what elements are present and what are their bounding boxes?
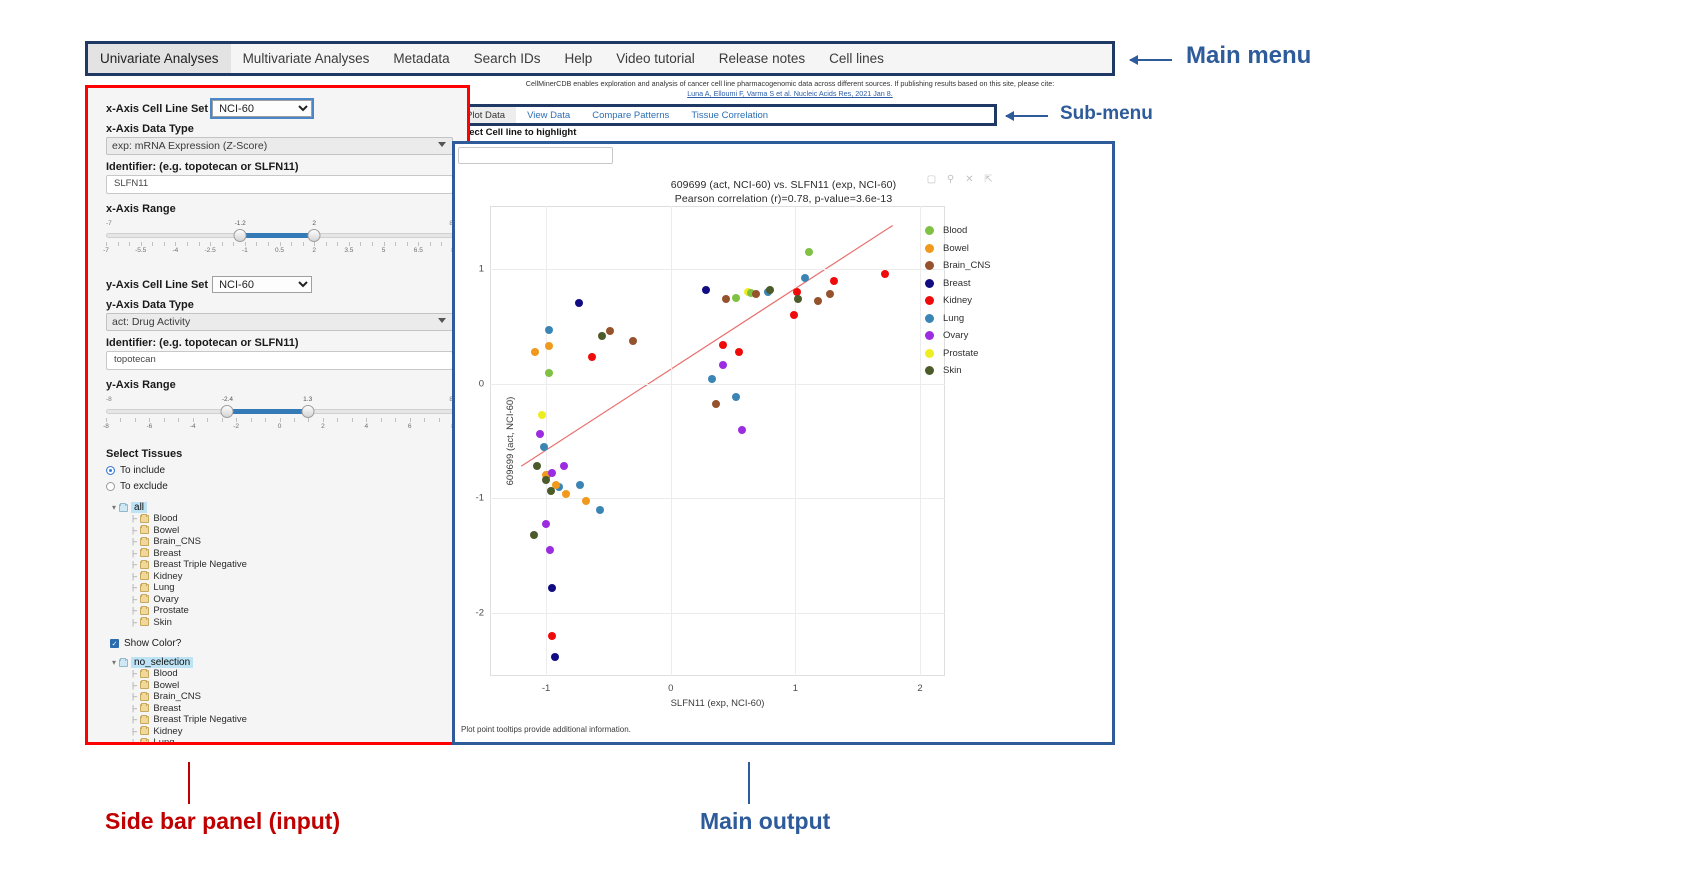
- tree-connector: |--: [132, 669, 136, 678]
- grid-line-vertical: [671, 206, 672, 676]
- folder-icon: [140, 618, 149, 626]
- scatter-point[interactable]: [826, 290, 834, 298]
- x-axis-data-type-value: exp: mRNA Expression (Z-Score): [112, 140, 267, 152]
- tissue-item-blood[interactable]: |--Blood: [132, 513, 453, 525]
- scatter-point[interactable]: [738, 426, 746, 434]
- checkbox-checked-icon: ✓: [110, 639, 119, 648]
- scatter-point[interactable]: [551, 653, 559, 661]
- scatter-point[interactable]: [538, 411, 546, 419]
- tissue-item-label: Breast Triple Negative: [153, 714, 246, 725]
- scatter-point[interactable]: [548, 632, 556, 640]
- scatter-point[interactable]: [548, 584, 556, 592]
- slider-tick-label: -5.5: [135, 247, 146, 254]
- scatter-point[interactable]: [830, 277, 838, 285]
- tissue-item-label: Breast Triple Negative: [153, 559, 246, 570]
- tree-connector: |--: [132, 618, 136, 627]
- tissue-item-label: Lung: [153, 582, 174, 593]
- scatter-plot[interactable]: 609699 (act, NCI-60) SLFN11 (exp, NCI-60…: [490, 206, 945, 676]
- scatter-point[interactable]: [790, 311, 798, 319]
- plot-title: 609699 (act, NCI-60) vs. SLFN11 (exp, NC…: [455, 178, 1112, 206]
- scatter-point[interactable]: [722, 295, 730, 303]
- tissue-item-lung[interactable]: |--Lung: [132, 582, 453, 594]
- scatter-point[interactable]: [548, 469, 556, 477]
- slider-tick-label: -4: [190, 423, 196, 430]
- sidebar-panel: x-Axis Cell Line Set NCI-60 x-Axis Data …: [85, 85, 470, 745]
- folder-icon: [140, 526, 149, 534]
- scatter-point[interactable]: [881, 270, 889, 278]
- scatter-point[interactable]: [629, 337, 637, 345]
- tissue-item-prostate[interactable]: |--Prostate: [132, 605, 453, 617]
- tree-connector: |--: [132, 560, 136, 569]
- slider-min-edge: -7: [106, 220, 112, 227]
- select-tissues-title: Select Tissues: [106, 448, 453, 460]
- x-tick-label: 1: [793, 683, 798, 694]
- folder-icon: [140, 515, 149, 523]
- legend-label: Ovary: [943, 330, 968, 341]
- slider-tick-label: 5: [382, 247, 386, 254]
- slider-ticks: -7-5.5-4-2.5-10.523.556.58: [106, 242, 453, 260]
- tissue-item-label: Blood: [153, 513, 177, 524]
- slider-handle-high[interactable]: [308, 229, 321, 242]
- tree-connector: |--: [132, 583, 136, 592]
- select-cell-line-label: Select Cell line to highlight: [455, 127, 576, 138]
- slider-tick-label: 2: [321, 423, 325, 430]
- slider-tick-label: 0.5: [275, 247, 284, 254]
- tissue-item-label: Breast: [153, 703, 180, 714]
- tissue-item-breast[interactable]: |--Breast: [132, 703, 453, 715]
- tissue-item-label: Brain_CNS: [153, 691, 201, 702]
- legend-item-skin[interactable]: Skin: [925, 362, 991, 380]
- slider-tick-label: -2: [233, 423, 239, 430]
- legend-item-brain-cns[interactable]: Brain_CNS: [925, 257, 991, 275]
- scatter-point[interactable]: [547, 487, 555, 495]
- folder-icon: [140, 727, 149, 735]
- legend-label: Brain_CNS: [943, 260, 991, 271]
- main-menu-item-multivariate-analyses[interactable]: Multivariate Analyses: [231, 44, 382, 73]
- main-menu-items: Univariate AnalysesMultivariate Analyses…: [88, 44, 1112, 73]
- folder-icon: [140, 607, 149, 615]
- tissue-root-label: all: [131, 502, 147, 513]
- main-menu-item-help[interactable]: Help: [552, 44, 604, 73]
- legend-color-swatch: [925, 366, 934, 375]
- folder-icon: [140, 704, 149, 712]
- tissue-item-label: Breast: [153, 548, 180, 559]
- scatter-point[interactable]: [545, 342, 553, 350]
- y-tick-label: 1: [479, 264, 484, 275]
- y-axis-data-type-value: act: Drug Activity: [112, 316, 190, 328]
- tissues-include-radio[interactable]: To include: [106, 465, 453, 476]
- tissue-item-breast-triple-negative[interactable]: |--Breast Triple Negative: [132, 559, 453, 571]
- y-axis-cell-line-set-select[interactable]: NCI-60: [212, 276, 312, 293]
- tree-connector: |--: [132, 526, 136, 535]
- main-menu-item-univariate-analyses[interactable]: Univariate Analyses: [88, 44, 231, 73]
- x-axis-cell-line-set-select[interactable]: NCI-60: [212, 100, 312, 117]
- main-menu-item-metadata[interactable]: Metadata: [381, 44, 461, 73]
- scatter-point[interactable]: [546, 546, 554, 554]
- scatter-point[interactable]: [596, 506, 604, 514]
- annotation-submenu: Sub-menu: [1060, 103, 1153, 125]
- show-color-checkbox[interactable]: ✓ Show Color?: [110, 638, 453, 649]
- scatter-point[interactable]: [732, 294, 740, 302]
- slider-low-value: -2.4: [222, 396, 233, 403]
- folder-icon: [140, 670, 149, 678]
- tissue-item-label: Prostate: [153, 605, 188, 616]
- annotation-arrow-sidebar: [188, 762, 190, 804]
- annotation-main-menu: Main menu: [1186, 42, 1311, 70]
- legend-label: Prostate: [943, 348, 978, 359]
- citation-line-1: CellMinerCDB enables exploration and ana…: [470, 79, 1110, 89]
- tree-connector: |--: [132, 514, 136, 523]
- x-tick-label: -1: [542, 683, 550, 694]
- scatter-point[interactable]: [805, 248, 813, 256]
- scatter-point[interactable]: [542, 476, 550, 484]
- folder-icon: [140, 538, 149, 546]
- slider-tick-label: -8: [103, 423, 109, 430]
- scatter-point[interactable]: [732, 393, 740, 401]
- x-axis-cell-line-set-label: x-Axis Cell Line Set: [106, 103, 208, 115]
- tissue-item-brain-cns[interactable]: |--Brain_CNS: [132, 691, 453, 703]
- y-axis-data-type-label: y-Axis Data Type: [106, 299, 453, 311]
- slider-tick-label: 6.5: [414, 247, 423, 254]
- slider-tick-label: -1: [242, 247, 248, 254]
- folder-icon: [140, 595, 149, 603]
- legend-item-prostate[interactable]: Prostate: [925, 345, 991, 363]
- sub-menu-items: Plot DataView DataCompare PatternsTissue…: [455, 107, 994, 123]
- tissue-tree-include: ▾ all |--Blood|--Bowel|--Brain_CNS|--Bre…: [106, 502, 453, 628]
- scatter-point[interactable]: [545, 326, 553, 334]
- trendline: [490, 206, 945, 676]
- slider-tick-label: 2: [312, 247, 316, 254]
- expander-icon[interactable]: ▾: [112, 658, 116, 667]
- tissue-item-ovary[interactable]: |--Ovary: [132, 594, 453, 606]
- annotation-arrow-submenu: [1006, 115, 1048, 117]
- grid-line-horizontal: [490, 613, 945, 614]
- sub-menu-item-compare-patterns[interactable]: Compare Patterns: [581, 107, 680, 123]
- tissue-item-label: Lung: [153, 737, 174, 745]
- plot-title-line1: 609699 (act, NCI-60) vs. SLFN11 (exp, NC…: [671, 179, 896, 191]
- slider-tick-label: -7: [103, 247, 109, 254]
- slider-high-value: 1.3: [303, 396, 312, 403]
- scatter-point[interactable]: [536, 430, 544, 438]
- x-axis-data-type-label: x-Axis Data Type: [106, 123, 453, 135]
- slider-min-edge: -8: [106, 396, 112, 403]
- slider-fill: [227, 409, 307, 414]
- tissue-item-label: Kidney: [153, 571, 182, 582]
- legend-item-kidney[interactable]: Kidney: [925, 292, 991, 310]
- scatter-point[interactable]: [712, 400, 720, 408]
- scatter-point[interactable]: [575, 299, 583, 307]
- folder-icon: [119, 504, 128, 512]
- plot-subtitle: Pearson correlation (r)=0.78, p-value=3.…: [455, 192, 1112, 206]
- tissue-item-brain-cns[interactable]: |--Brain_CNS: [132, 536, 453, 548]
- y-axis-cell-line-set-row: y-Axis Cell Line Set NCI-60: [106, 276, 453, 293]
- folder-icon: [140, 739, 149, 745]
- main-menu-item-video-tutorial[interactable]: Video tutorial: [604, 44, 707, 73]
- scatter-point[interactable]: [719, 361, 727, 369]
- slider-tick-label: -6: [146, 423, 152, 430]
- tree-connector: |--: [132, 727, 136, 736]
- scatter-point[interactable]: [560, 462, 568, 470]
- legend-color-swatch: [925, 314, 934, 323]
- slider-tick-label: -4: [173, 247, 179, 254]
- scatter-point[interactable]: [598, 332, 606, 340]
- tissue-item-bowel[interactable]: |--Bowel: [132, 680, 453, 692]
- scatter-point[interactable]: [702, 286, 710, 294]
- scatter-point[interactable]: [735, 348, 743, 356]
- main-menu-item-release-notes[interactable]: Release notes: [707, 44, 817, 73]
- scatter-point[interactable]: [545, 369, 553, 377]
- legend-color-swatch: [925, 279, 934, 288]
- tissue-root2-label: no_selection: [131, 657, 193, 668]
- tissue-tree-noselection: ▾ no_selection |--Blood|--Bowel|--Brain_…: [106, 657, 453, 745]
- slider-handle-low[interactable]: [234, 229, 247, 242]
- tissue-item-label: Skin: [153, 617, 171, 628]
- x-axis-identifier-label: Identifier: (e.g. topotecan or SLFN11): [106, 161, 453, 173]
- annotation-sidebar: Side bar panel (input): [105, 808, 340, 835]
- cell-line-highlight-input[interactable]: [458, 147, 613, 164]
- tissue-item-label: Brain_CNS: [153, 536, 201, 547]
- expander-icon[interactable]: ▾: [112, 503, 116, 512]
- scatter-point[interactable]: [531, 348, 539, 356]
- sub-menu-item-view-data[interactable]: View Data: [516, 107, 581, 123]
- y-tick-label: -1: [476, 493, 484, 504]
- grid-line-horizontal: [490, 269, 945, 270]
- slider-tick-label: 3.5: [344, 247, 353, 254]
- plot-legend: BloodBowelBrain_CNSBreastKidneyLungOvary…: [925, 222, 991, 380]
- scatter-point[interactable]: [576, 481, 584, 489]
- tissue-item-kidney[interactable]: |--Kidney: [132, 726, 453, 738]
- folder-icon: [140, 693, 149, 701]
- scatter-point[interactable]: [794, 295, 802, 303]
- scatter-point[interactable]: [562, 490, 570, 498]
- annotation-main-output: Main output: [700, 808, 830, 835]
- y-axis-range-slider[interactable]: -88-2.41.3-8-6-4-202468: [106, 396, 453, 438]
- tree-connector: |--: [132, 704, 136, 713]
- slider-handle-high[interactable]: [301, 405, 314, 418]
- legend-label: Skin: [943, 365, 961, 376]
- radio-on-icon: [106, 466, 115, 475]
- scatter-point[interactable]: [588, 353, 596, 361]
- scatter-point[interactable]: [719, 341, 727, 349]
- legend-item-lung[interactable]: Lung: [925, 310, 991, 328]
- y-axis-identifier-label: Identifier: (e.g. topotecan or SLFN11): [106, 337, 453, 349]
- legend-color-swatch: [925, 261, 934, 270]
- legend-label: Blood: [943, 225, 967, 236]
- scatter-point[interactable]: [582, 497, 590, 505]
- scatter-point[interactable]: [814, 297, 822, 305]
- legend-item-breast[interactable]: Breast: [925, 275, 991, 293]
- chevron-down-icon: [438, 142, 446, 147]
- sub-menu-item-tissue-correlation[interactable]: Tissue Correlation: [680, 107, 779, 123]
- x-axis-label: SLFN11 (exp, NCI-60): [490, 698, 945, 709]
- slider-fill: [240, 233, 314, 238]
- grid-line-vertical: [546, 206, 547, 676]
- folder-icon: [140, 549, 149, 557]
- annotation-arrow-main-output: [748, 762, 750, 804]
- legend-color-swatch: [925, 244, 934, 253]
- tree-connector: |--: [132, 606, 136, 615]
- citation-block: CellMinerCDB enables exploration and ana…: [470, 79, 1110, 100]
- x-tick-label: 0: [668, 683, 673, 694]
- folder-icon: [140, 681, 149, 689]
- x-axis-cell-line-set-row: x-Axis Cell Line Set NCI-60: [106, 100, 453, 117]
- slider-tick-label: 0: [278, 423, 282, 430]
- scatter-point[interactable]: [542, 520, 550, 528]
- folder-icon: [119, 659, 128, 667]
- tissues-exclude-radio[interactable]: To exclude: [106, 481, 453, 492]
- x-axis-range-label: x-Axis Range: [106, 203, 453, 215]
- tree-connector: |--: [132, 549, 136, 558]
- tissue-item-bowel[interactable]: |--Bowel: [132, 525, 453, 537]
- y-axis-label: 609699 (act, NCI-60): [505, 397, 516, 486]
- y-tick-label: 0: [479, 378, 484, 389]
- tissue-item-label: Bowel: [153, 680, 179, 691]
- tissue-tree-root-all[interactable]: ▾ all: [112, 502, 453, 513]
- tissue-item-breast[interactable]: |--Breast: [132, 548, 453, 560]
- legend-item-ovary[interactable]: Ovary: [925, 327, 991, 345]
- legend-label: Breast: [943, 278, 970, 289]
- grid-line-horizontal: [490, 498, 945, 499]
- tissue-item-kidney[interactable]: |--Kidney: [132, 571, 453, 583]
- chevron-down-icon: [438, 318, 446, 323]
- tree-connector: |--: [132, 715, 136, 724]
- scatter-point[interactable]: [801, 274, 809, 282]
- grid-line-horizontal: [490, 384, 945, 385]
- tissue-tree-items: |--Blood|--Bowel|--Brain_CNS|--Breast|--…: [106, 513, 453, 628]
- grid-line-vertical: [795, 206, 796, 676]
- folder-icon: [140, 561, 149, 569]
- tissue-tree-root-no-selection[interactable]: ▾ no_selection: [112, 657, 453, 668]
- tree-connector: |--: [132, 738, 136, 745]
- legend-color-swatch: [925, 331, 934, 340]
- tree-connector: |--: [132, 572, 136, 581]
- legend-item-bowel[interactable]: Bowel: [925, 240, 991, 258]
- main-menu-item-search-ids[interactable]: Search IDs: [462, 44, 553, 73]
- show-color-label: Show Color?: [124, 638, 181, 649]
- folder-icon: [140, 572, 149, 580]
- radio-off-icon: [106, 482, 115, 491]
- tissue-item-label: Bowel: [153, 525, 179, 536]
- slider-handle-low[interactable]: [221, 405, 234, 418]
- annotation-arrow-main-menu: [1130, 59, 1172, 61]
- legend-label: Lung: [943, 313, 964, 324]
- scatter-point[interactable]: [708, 375, 716, 383]
- legend-color-swatch: [925, 296, 934, 305]
- tissue-item-label: Ovary: [153, 594, 178, 605]
- tissue-item-blood[interactable]: |--Blood: [132, 668, 453, 680]
- y-axis-cell-line-set-label: y-Axis Cell Line Set: [106, 279, 208, 291]
- y-axis-data-type-select[interactable]: act: Drug Activity: [106, 313, 453, 331]
- tissue-item-skin[interactable]: |--Skin: [132, 617, 453, 629]
- main-menu-bar: Univariate AnalysesMultivariate Analyses…: [85, 41, 1115, 76]
- scatter-point[interactable]: [533, 462, 541, 470]
- tree-connector: |--: [132, 537, 136, 546]
- scatter-point[interactable]: [530, 531, 538, 539]
- legend-color-swatch: [925, 349, 934, 358]
- tree-connector: |--: [132, 681, 136, 690]
- y-axis-identifier-input[interactable]: topotecan: [106, 351, 453, 370]
- tissues-include-label: To include: [120, 465, 165, 476]
- y-axis-range-label: y-Axis Range: [106, 379, 453, 391]
- tissue-item-label: Kidney: [153, 726, 182, 737]
- main-menu-item-cell-lines[interactable]: Cell lines: [817, 44, 896, 73]
- legend-color-swatch: [925, 226, 934, 235]
- x-axis-range-slider[interactable]: -78-1.22-7-5.5-4-2.5-10.523.556.58: [106, 220, 453, 262]
- legend-item-blood[interactable]: Blood: [925, 222, 991, 240]
- slider-low-value: -1.2: [235, 220, 246, 227]
- main-output-panel: ▢ ⚲ ✕ ⇱ 609699 (act, NCI-60) vs. SLFN11 …: [452, 141, 1115, 745]
- sub-menu-bar: Plot DataView DataCompare PatternsTissue…: [452, 104, 997, 126]
- tissue-item-label: Blood: [153, 668, 177, 679]
- x-tick-label: 2: [917, 683, 922, 694]
- x-axis-data-type-select[interactable]: exp: mRNA Expression (Z-Score): [106, 137, 453, 155]
- scatter-point[interactable]: [540, 443, 548, 451]
- slider-ticks: -8-6-4-202468: [106, 418, 453, 436]
- folder-icon: [140, 716, 149, 724]
- tissue-item-lung[interactable]: |--Lung: [132, 737, 453, 745]
- folder-icon: [140, 584, 149, 592]
- x-axis-identifier-input[interactable]: SLFN11: [106, 175, 453, 194]
- scatter-point[interactable]: [766, 286, 774, 294]
- plot-footer-note: Plot point tooltips provide additional i…: [461, 725, 631, 734]
- y-tick-label: -2: [476, 607, 484, 618]
- legend-label: Kidney: [943, 295, 972, 306]
- slider-tick-label: 6: [408, 423, 412, 430]
- grid-line-vertical: [920, 206, 921, 676]
- citation-link[interactable]: Luna A, Elloumi F, Varma S et al. Nuclei…: [687, 89, 893, 98]
- tree-connector: |--: [132, 595, 136, 604]
- legend-label: Bowel: [943, 243, 969, 254]
- slider-tick-label: 4: [364, 423, 368, 430]
- tissue-item-breast-triple-negative[interactable]: |--Breast Triple Negative: [132, 714, 453, 726]
- slider-high-value: 2: [312, 220, 316, 227]
- tree-connector: |--: [132, 692, 136, 701]
- scatter-point[interactable]: [606, 327, 614, 335]
- slider-tick-label: -2.5: [204, 247, 215, 254]
- scatter-point[interactable]: [752, 290, 760, 298]
- tissue-tree-items-2: |--Blood|--Bowel|--Brain_CNS|--Breast|--…: [106, 668, 453, 745]
- tissues-exclude-label: To exclude: [120, 481, 168, 492]
